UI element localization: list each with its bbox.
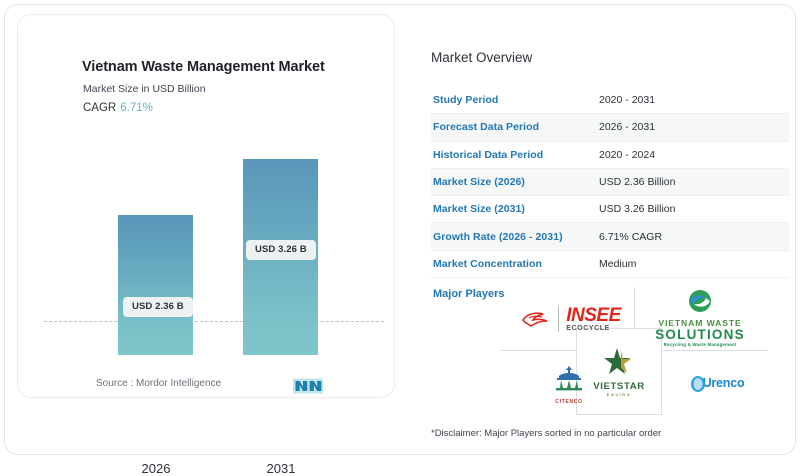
vietstar-wordmark: VIETSTAR xyxy=(593,382,645,392)
disclaimer-text: *Disclaimer: Major Players sorted in no … xyxy=(431,428,661,439)
page-title: Vietnam Waste Management Market xyxy=(82,59,325,75)
cagr-value: 6.71% xyxy=(120,102,153,114)
row-value: USD 2.36 Billion xyxy=(599,176,675,188)
row-value: 2020 - 2024 xyxy=(599,149,655,161)
urenco-leaf-icon xyxy=(690,375,706,393)
overview-heading: Market Overview xyxy=(431,50,532,65)
bar-label-2031: USD 3.26 B xyxy=(246,240,316,260)
overview-table: Study Period 2020 - 2031 Forecast Data P… xyxy=(431,87,789,278)
x-tick-2026: 2026 xyxy=(111,461,201,476)
market-overview-panel: Market Overview Study Period 2020 - 2031… xyxy=(415,5,797,456)
table-row: Study Period 2020 - 2031 xyxy=(431,87,789,114)
table-row: Growth Rate (2026 - 2031) 6.71% CAGR xyxy=(431,223,789,250)
table-row: Historical Data Period 2020 - 2024 xyxy=(431,142,789,169)
x-tick-2031: 2031 xyxy=(236,461,326,476)
report-card-frame: Vietnam Waste Management Market Market S… xyxy=(4,4,796,455)
row-key: Growth Rate (2026 - 2031) xyxy=(431,231,599,243)
table-row: Market Size (2026) USD 2.36 Billion xyxy=(431,169,789,196)
vws-line3: Recycling & Waste Management xyxy=(655,342,745,347)
player-logo-vietstar: VIETSTAR ENVIRO xyxy=(578,331,660,413)
row-value: 2026 - 2031 xyxy=(599,121,655,133)
table-row: Forecast Data Period 2026 - 2031 xyxy=(431,114,789,141)
vws-line2: SOLUTIONS xyxy=(655,328,745,342)
major-players-logo-grid: INSEE ECOCYCLE VIETNAM WASTE SOLUTIONS R… xyxy=(500,287,768,415)
insee-divider xyxy=(558,306,559,332)
source-label: Source : Mordor Intelligence xyxy=(96,378,221,389)
major-players-label: Major Players xyxy=(433,288,505,300)
table-row: Market Concentration Medium xyxy=(431,251,789,278)
row-value: USD 3.26 Billion xyxy=(599,203,675,215)
table-row: Market Size (2031) USD 3.26 Billion xyxy=(431,196,789,223)
row-key: Market Size (2026) xyxy=(431,176,599,188)
row-value: Medium xyxy=(599,258,636,270)
chart-card: Vietnam Waste Management Market Market S… xyxy=(17,14,395,398)
insee-eagle-icon xyxy=(521,307,551,331)
row-value: 2020 - 2031 xyxy=(599,94,655,106)
row-key: Market Concentration xyxy=(431,258,599,270)
vietstar-tagline: ENVIRO xyxy=(593,392,645,397)
vws-circle-icon xyxy=(688,289,712,313)
player-logo-urenco: Urenco xyxy=(670,361,766,405)
row-key: Historical Data Period xyxy=(431,149,599,161)
cagr-row: CAGR6.71% xyxy=(83,102,153,114)
row-key: Forecast Data Period xyxy=(431,121,599,133)
insee-wordmark: INSEE xyxy=(566,306,621,325)
reference-dashed-line xyxy=(44,321,384,322)
vietstar-star-icon xyxy=(602,347,636,377)
chart-subtitle: Market Size in USD Billion xyxy=(83,83,206,95)
bar-chart-plot: USD 2.36 B USD 3.26 B 2026 2031 xyxy=(18,125,396,355)
row-key: Market Size (2031) xyxy=(431,203,599,215)
mordor-intelligence-logo-icon xyxy=(293,378,323,394)
bar-2026[interactable] xyxy=(118,215,193,355)
row-value: 6.71% CAGR xyxy=(599,231,662,243)
bar-label-2026: USD 2.36 B xyxy=(123,297,193,317)
row-key: Study Period xyxy=(431,94,599,106)
urenco-wordmark: Urenco xyxy=(703,376,745,390)
cagr-label: CAGR xyxy=(83,102,116,114)
